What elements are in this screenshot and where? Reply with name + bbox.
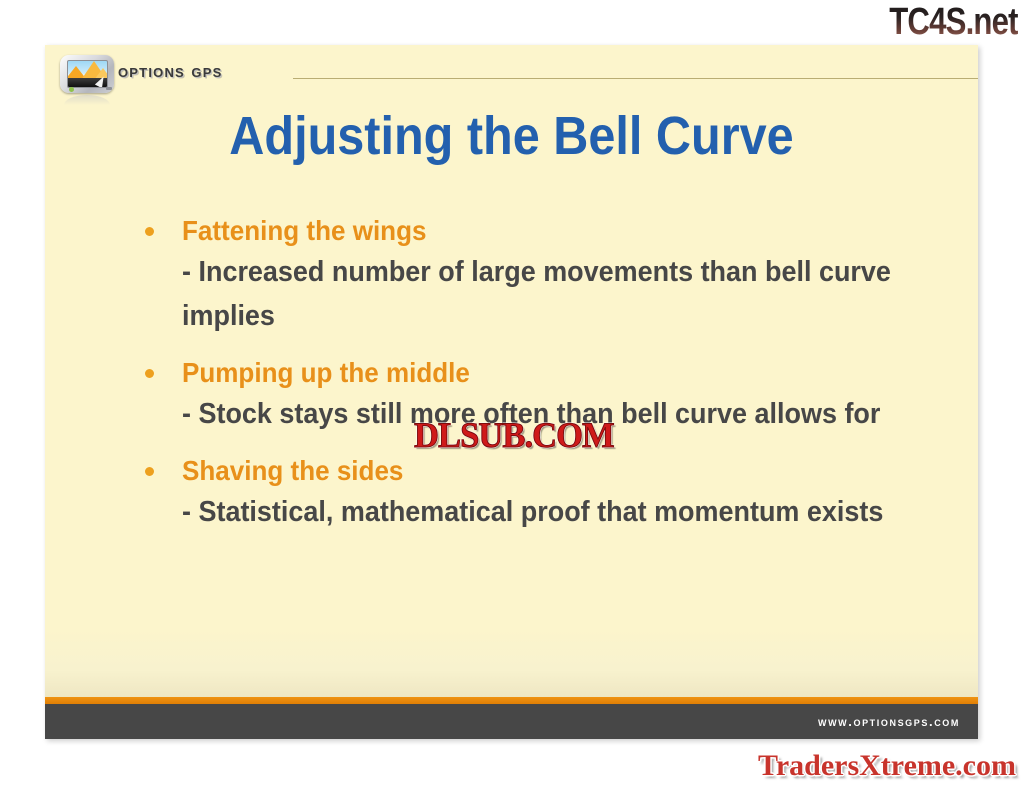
footer-website-url: www.OptionsGPS.com: [818, 714, 960, 729]
tc4s-site-brand: TC4S.net: [890, 2, 1018, 42]
header-divider: [293, 78, 978, 79]
bullet-detail: - Increased number of large movements th…: [182, 250, 910, 338]
gps-device-icon: [58, 53, 116, 95]
bullet-list: Fattening the wings - Increased number o…: [95, 212, 965, 550]
slide-header: Options GPS: [45, 45, 978, 100]
power-led-icon: [69, 87, 74, 92]
slide-footer-bar: www.OptionsGPS.com: [45, 704, 978, 739]
bullet-dot-icon: [145, 467, 154, 476]
bullet-group: Shaving the sides - Statistical, mathema…: [95, 452, 965, 534]
options-gps-wordmark: Options GPS: [118, 61, 222, 83]
tradersxtreme-brand: TradersXtreme.com: [758, 749, 1016, 783]
logo-reflection: [64, 95, 110, 105]
slide-title: Adjusting the Bell Curve: [92, 107, 932, 165]
bullet-heading: Pumping up the middle: [182, 354, 910, 392]
device-button-icon: [106, 87, 112, 90]
bullet-heading: Fattening the wings: [182, 212, 910, 250]
bullet-heading: Shaving the sides: [182, 452, 910, 490]
presentation-slide: Options GPS Adjusting the Bell Curve Fat…: [45, 45, 978, 739]
footer-accent-stripe: [45, 697, 978, 704]
slide-screenshot: { "top_brand": { "label": "TC4S.net" }, …: [0, 0, 1024, 791]
bullet-dot-icon: [145, 227, 154, 236]
bullet-dot-icon: [145, 369, 154, 378]
dlsub-watermark: DLSUB.COM: [414, 417, 614, 453]
bullet-detail: - Statistical, mathematical proof that m…: [182, 490, 910, 534]
gps-device-screen: [67, 60, 108, 88]
bullet-group: Fattening the wings - Increased number o…: [95, 212, 965, 338]
